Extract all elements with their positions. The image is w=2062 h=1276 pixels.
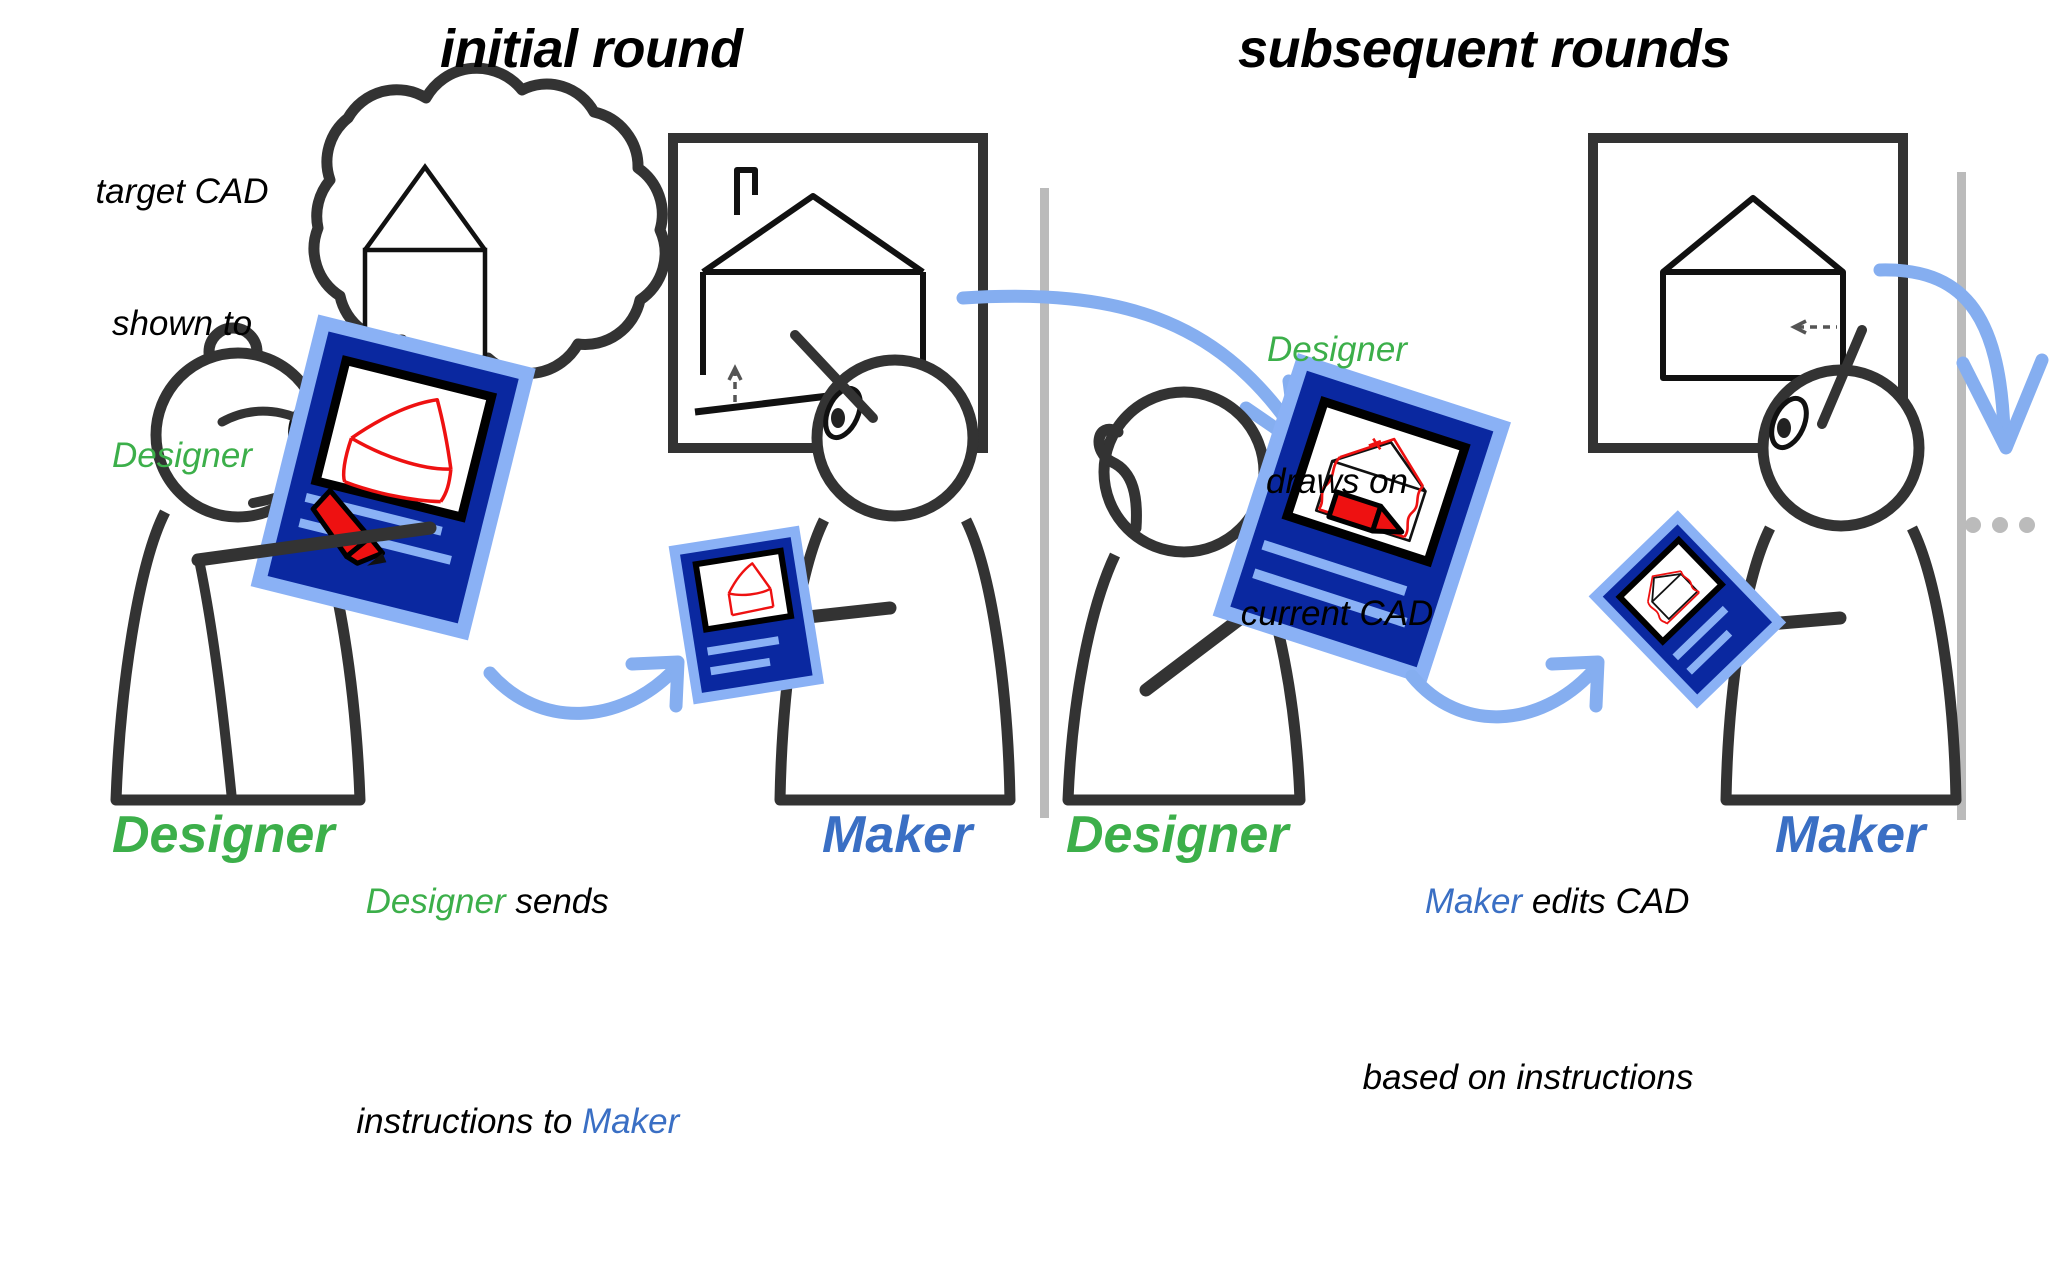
initial-maker-tablet[interactable]	[669, 526, 824, 705]
maker-word: Maker	[582, 1102, 679, 1141]
note-line-1: Maker edits CAD	[1354, 836, 1702, 968]
panel-title-initial: initial round	[440, 18, 742, 80]
role-label-designer-subsequent: Designer	[1066, 805, 1289, 865]
note-line-1-designer: Designer	[1212, 328, 1462, 372]
draws-on-current-cad-note-text: Designer draws on current CAD	[1212, 240, 1462, 724]
diagram-canvas: initial round subsequent rounds target C…	[0, 0, 2062, 921]
target-cad-note-text: target CAD shown to Designer	[72, 82, 292, 566]
note-line-2: shown to	[72, 302, 292, 346]
role-label-maker-initial: Maker	[822, 805, 972, 865]
maker-edits-cad-note-text: Maker edits CAD based on instructions	[1354, 748, 1702, 1188]
note-line-3-designer: Designer	[72, 434, 292, 478]
note-line-1: target CAD	[72, 170, 292, 214]
instructions-to-word: instructions to	[356, 1102, 582, 1141]
designer-word: Designer	[366, 882, 506, 921]
note-line-2: draws on	[1212, 460, 1462, 504]
panel-divider-right	[1957, 172, 1966, 820]
panel-title-subsequent: subsequent rounds	[1238, 18, 1731, 80]
note-line-1: Designer sends	[298, 836, 618, 968]
note-line-3: current CAD	[1212, 592, 1462, 636]
sends-word: sends	[506, 882, 609, 921]
role-label-maker-subsequent: Maker	[1775, 805, 1925, 865]
note-line-2: instructions to Maker	[298, 1056, 618, 1188]
sends-instructions-note-text: Designer sends instructions to Maker	[298, 748, 618, 1276]
edits-cad-word: edits CAD	[1522, 882, 1689, 921]
maker-word: Maker	[1425, 882, 1522, 921]
panel-divider-left	[1040, 188, 1049, 818]
note-line-2: based on instructions	[1354, 1056, 1702, 1100]
initial-designer-tablet[interactable]	[251, 314, 536, 640]
role-label-designer-initial: Designer	[112, 805, 335, 865]
designer-to-maker-arrow-initial	[490, 662, 678, 713]
continuation-dots	[1965, 517, 2035, 533]
